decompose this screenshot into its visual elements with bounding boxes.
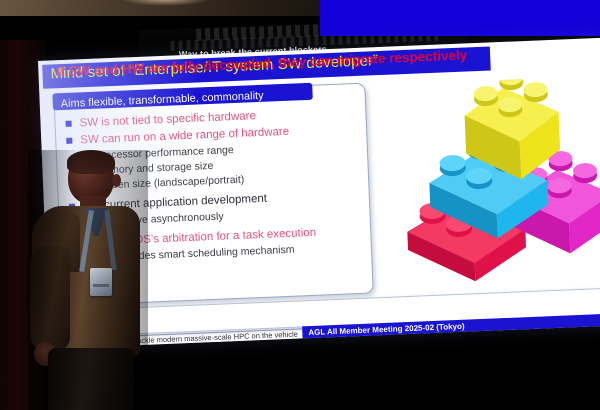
presenter-arm	[30, 246, 70, 350]
bricks-svg	[391, 76, 600, 290]
building-bricks-graphic	[391, 76, 600, 290]
previous-slide-blue-bar	[320, 0, 600, 36]
presenter-hair	[67, 150, 115, 174]
presenter-legs	[48, 348, 134, 410]
bullet-square-icon	[66, 138, 72, 144]
bullet-square-icon	[65, 121, 71, 127]
presentation-photo-scene: Way to break the current blockers Mind s…	[0, 0, 600, 410]
presenter-ear	[112, 174, 121, 187]
presenter-badge	[90, 268, 112, 296]
presenter-silhouette	[28, 150, 148, 410]
